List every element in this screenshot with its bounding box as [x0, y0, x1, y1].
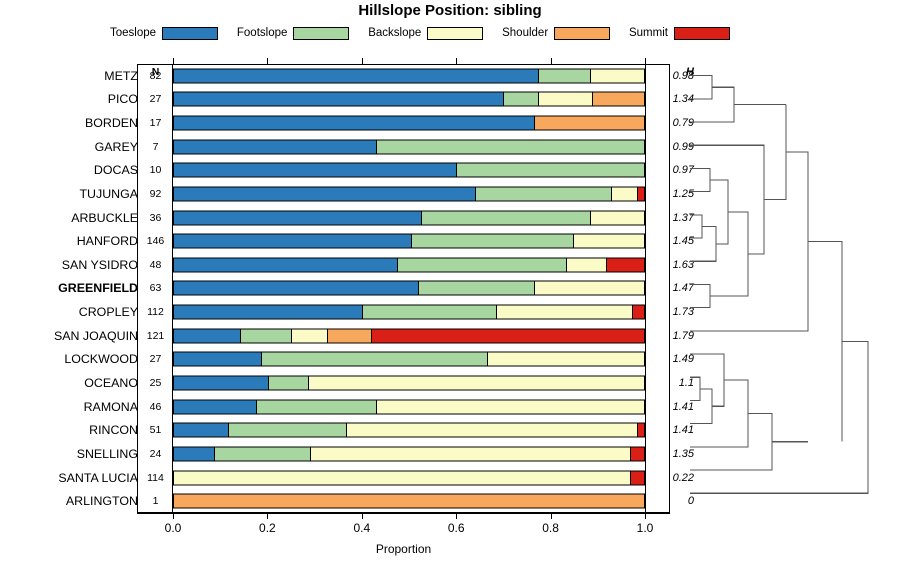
legend-item-backslope: Backslope: [368, 27, 483, 40]
row-h-value: 0.98: [650, 70, 694, 82]
row-h-value: 1.34: [650, 93, 694, 105]
stacked-bar: [173, 92, 645, 107]
x-tick-top: [362, 58, 363, 64]
bar-segment-toeslope: [174, 306, 362, 319]
row-label-san-ysidro: SAN YSIDRO: [62, 258, 138, 272]
bar-segment-toeslope: [174, 187, 475, 200]
chart-root: Hillslope Position: sibling ToeslopeFoot…: [0, 0, 900, 580]
legend-swatch: [427, 27, 483, 40]
bar-segment-toeslope: [174, 353, 261, 366]
x-tick: [551, 513, 552, 519]
stacked-bar: [173, 328, 645, 343]
stacked-bar: [173, 376, 645, 391]
bar-segment-toeslope: [174, 282, 418, 295]
bar-segment-backslope: [291, 329, 326, 342]
bar-segment-backslope: [174, 471, 630, 484]
x-tick-top: [645, 58, 646, 64]
row-h-value: 1.49: [650, 353, 694, 365]
row-h-value: 1.41: [650, 424, 694, 436]
stacked-bar: [173, 210, 645, 225]
bar-segment-summit: [630, 471, 644, 484]
row-n-value: 36: [141, 212, 170, 224]
row-h-value: 1.79: [650, 330, 694, 342]
bar-segment-shoulder: [174, 495, 644, 508]
x-tick: [173, 513, 174, 519]
bar-segment-toeslope: [174, 235, 411, 248]
row-n-value: 114: [141, 472, 170, 484]
bar-segment-summit: [630, 447, 644, 460]
stacked-bar: [173, 470, 645, 485]
bar-segment-backslope: [538, 93, 592, 106]
bar-segment-footslope: [362, 306, 496, 319]
x-tick-top: [173, 58, 174, 64]
row-label-metz: METZ: [104, 69, 138, 83]
bar-segment-footslope: [503, 93, 538, 106]
legend-item-toeslope: Toeslope: [110, 27, 218, 40]
row-label-ramona: RAMONA: [84, 400, 138, 414]
row-n-value: 17: [141, 117, 170, 129]
bar-segment-summit: [606, 258, 644, 271]
x-tick-label: 0.0: [153, 521, 193, 535]
bar-segment-summit: [632, 306, 644, 319]
row-n-value: 51: [141, 424, 170, 436]
bar-segment-backslope: [308, 377, 644, 390]
row-h-value: 1.37: [650, 212, 694, 224]
bar-segment-toeslope: [174, 424, 228, 437]
bar-segment-footslope: [538, 69, 590, 82]
bar-segment-toeslope: [174, 211, 421, 224]
x-tick: [456, 513, 457, 519]
row-label-oceano: OCEANO: [84, 376, 138, 390]
legend-label: Shoulder: [502, 27, 548, 39]
bar-segment-backslope: [611, 187, 637, 200]
bar-segment-footslope: [397, 258, 566, 271]
row-h-value: 0: [650, 495, 694, 507]
legend-item-footslope: Footslope: [237, 27, 350, 40]
x-tick-top: [267, 58, 268, 64]
row-h-value: 0.79: [650, 117, 694, 129]
row-label-docas: DOCAS: [94, 163, 138, 177]
bar-segment-shoulder: [534, 117, 644, 130]
row-h-value: 0.97: [650, 164, 694, 176]
bar-segment-toeslope: [174, 117, 534, 130]
row-n-value: 82: [141, 70, 170, 82]
row-h-value: 0.99: [650, 141, 694, 153]
x-tick: [645, 513, 646, 519]
legend: ToeslopeFootslopeBackslopeShoulderSummit: [110, 24, 730, 42]
bar-segment-backslope: [310, 447, 630, 460]
x-tick-top: [456, 58, 457, 64]
bar-segment-shoulder: [327, 329, 372, 342]
legend-label: Summit: [629, 27, 668, 39]
bar-segment-backslope: [590, 69, 644, 82]
bar-segment-toeslope: [174, 258, 397, 271]
legend-label: Backslope: [368, 27, 421, 39]
bar-segment-backslope: [346, 424, 637, 437]
stacked-bar: [173, 494, 645, 509]
bar-segment-footslope: [214, 447, 310, 460]
legend-swatch: [293, 27, 349, 40]
bar-segment-footslope: [268, 377, 308, 390]
legend-item-shoulder: Shoulder: [502, 27, 610, 40]
row-label-santa-lucia: SANTA LUCIA: [58, 471, 138, 485]
stacked-bar: [173, 186, 645, 201]
row-h-value: 1.63: [650, 259, 694, 271]
stacked-bar: [173, 116, 645, 131]
bar-segment-footslope: [475, 187, 611, 200]
stacked-bar: [173, 234, 645, 249]
bar-segment-footslope: [421, 211, 590, 224]
bar-segment-footslope: [418, 282, 533, 295]
bar-segment-backslope: [376, 400, 644, 413]
bar-segment-summit: [637, 187, 644, 200]
bar-segment-backslope: [590, 211, 644, 224]
bar-segment-footslope: [256, 400, 376, 413]
bar-segment-backslope: [534, 282, 644, 295]
bar-segment-toeslope: [174, 69, 538, 82]
row-label-rincon: RINCON: [89, 423, 138, 437]
stacked-bar: [173, 446, 645, 461]
bar-segment-toeslope: [174, 164, 456, 177]
bar-segment-summit: [371, 329, 644, 342]
stacked-bar: [173, 68, 645, 83]
row-label-pico: PICO: [108, 92, 138, 106]
row-n-value: 63: [141, 282, 170, 294]
row-label-arbuckle: ARBUCKLE: [71, 211, 138, 225]
x-tick: [267, 513, 268, 519]
legend-item-summit: Summit: [629, 27, 730, 40]
row-n-value: 10: [141, 164, 170, 176]
stacked-bar: [173, 257, 645, 272]
row-n-value: 112: [141, 306, 170, 318]
stacked-bar: [173, 163, 645, 178]
bar-segment-footslope: [411, 235, 573, 248]
row-n-value: 121: [141, 330, 170, 342]
row-h-value: 1.45: [650, 235, 694, 247]
row-label-borden: BORDEN: [85, 116, 138, 130]
bar-segment-toeslope: [174, 93, 503, 106]
bar-segment-toeslope: [174, 377, 268, 390]
row-h-value: 1.47: [650, 282, 694, 294]
row-label-tujunga: TUJUNGA: [79, 187, 138, 201]
x-tick-label: 0.4: [342, 521, 382, 535]
row-h-value: 1.25: [650, 188, 694, 200]
bar-segment-footslope: [240, 329, 292, 342]
row-n-value: 27: [141, 353, 170, 365]
row-label-lockwood: LOCKWOOD: [64, 352, 138, 366]
row-h-value: 1.41: [650, 401, 694, 413]
x-axis-title: Proportion: [137, 542, 670, 556]
bar-segment-backslope: [487, 353, 644, 366]
row-h-value: 0.22: [650, 472, 694, 484]
bar-segment-backslope: [566, 258, 606, 271]
bar-segment-footslope: [456, 164, 644, 177]
chart-title: Hillslope Position: sibling: [0, 2, 900, 19]
row-n-value: 46: [141, 401, 170, 413]
row-label-greenfield: GREENFIELD: [58, 281, 138, 295]
row-n-value: 48: [141, 259, 170, 271]
row-n-value: 146: [141, 235, 170, 247]
legend-label: Footslope: [237, 27, 288, 39]
row-n-value: 7: [141, 141, 170, 153]
bar-segment-footslope: [261, 353, 487, 366]
x-tick-label: 1.0: [625, 521, 665, 535]
x-tick-label: 0.2: [247, 521, 287, 535]
legend-swatch: [554, 27, 610, 40]
row-n-value: 1: [141, 495, 170, 507]
stacked-bar: [173, 139, 645, 154]
row-n-value: 92: [141, 188, 170, 200]
bar-segment-shoulder: [592, 93, 644, 106]
row-label-hanford: HANFORD: [77, 234, 138, 248]
bar-segment-footslope: [228, 424, 346, 437]
bar-segment-toeslope: [174, 447, 214, 460]
row-label-cropley: CROPLEY: [79, 305, 138, 319]
bar-segment-backslope: [573, 235, 644, 248]
x-tick-top: [551, 58, 552, 64]
row-label-arlington: ARLINGTON: [66, 494, 138, 508]
dendrogram-svg: [690, 64, 895, 513]
bar-segment-summit: [637, 424, 644, 437]
stacked-bar: [173, 305, 645, 320]
stacked-bar: [173, 281, 645, 296]
row-label-san-joaquin: SAN JOAQUIN: [54, 329, 138, 343]
row-label-snelling: SNELLING: [77, 447, 138, 461]
x-axis-line: [137, 513, 670, 514]
row-h-value: 1.1: [650, 377, 694, 389]
row-n-value: 24: [141, 448, 170, 460]
bar-segment-toeslope: [174, 329, 240, 342]
row-n-value: 25: [141, 377, 170, 389]
x-tick-label: 0.6: [436, 521, 476, 535]
x-tick-label: 0.8: [531, 521, 571, 535]
legend-label: Toeslope: [110, 27, 156, 39]
row-h-value: 1.73: [650, 306, 694, 318]
bar-segment-backslope: [496, 306, 632, 319]
legend-swatch: [162, 27, 218, 40]
row-h-value: 1.35: [650, 448, 694, 460]
stacked-bar: [173, 399, 645, 414]
bar-segment-toeslope: [174, 140, 376, 153]
bar-segment-footslope: [376, 140, 644, 153]
stacked-bar: [173, 423, 645, 438]
row-n-value: 27: [141, 93, 170, 105]
x-tick: [362, 513, 363, 519]
dendrogram: [690, 64, 895, 513]
stacked-bar: [173, 352, 645, 367]
row-label-garey: GAREY: [95, 140, 138, 154]
bar-segment-toeslope: [174, 400, 256, 413]
legend-swatch: [674, 27, 730, 40]
